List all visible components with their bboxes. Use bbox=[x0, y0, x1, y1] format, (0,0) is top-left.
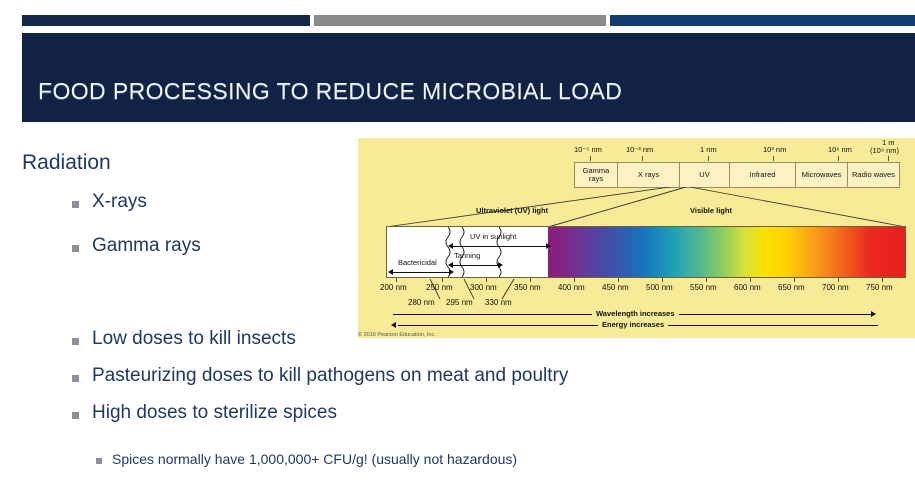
spectrum-band-radio-waves: Radio waves bbox=[848, 162, 900, 188]
label-bactericidal: Bactericidal bbox=[398, 258, 437, 267]
bactericidal-arrow-left bbox=[388, 269, 393, 275]
bactericidal-arrow-line bbox=[393, 272, 451, 273]
wavelength-increases-arrowhead bbox=[871, 311, 876, 317]
wavelength-tick bbox=[794, 278, 795, 282]
wavelength-label-400nm: 400 nm bbox=[558, 283, 585, 292]
spectrum-band-x-rays: X rays bbox=[618, 162, 680, 188]
axis-tick bbox=[642, 156, 643, 161]
bactericidal-arrow-right bbox=[449, 269, 454, 275]
band-label-line2: rays bbox=[589, 174, 603, 183]
label-uv-in-sunlight: UV in sunlight bbox=[470, 232, 516, 241]
label-tanning: Tanning bbox=[454, 251, 480, 260]
list-item-label: Pasteurizing doses to kill pathogens on … bbox=[92, 365, 568, 387]
page-title: FOOD PROCESSING TO REDUCE MICROBIAL LOAD bbox=[38, 78, 622, 105]
wavelength-label-330nm: 330 nm bbox=[485, 298, 512, 307]
wavelength-tick bbox=[838, 278, 839, 282]
expansion-guide-lines bbox=[358, 187, 915, 229]
spectrum-band-row: Gamma rays X rays UV Infrared Microwaves… bbox=[574, 162, 900, 188]
wavelength-label-750nm: 750 nm bbox=[866, 283, 893, 292]
uv-sunlight-arrow-left bbox=[448, 243, 453, 249]
wavelength-label-650nm: 650 nm bbox=[778, 283, 805, 292]
wavelength-label-200nm: 200 nm bbox=[380, 283, 407, 292]
axis-label-1e-5nm: 10⁻⁵ nm bbox=[574, 145, 602, 154]
bullet-square-icon bbox=[72, 245, 79, 252]
bullet-square-icon bbox=[72, 201, 79, 208]
bullet-square-icon bbox=[72, 338, 79, 345]
spectrum-band-infrared: Infrared bbox=[730, 162, 796, 188]
spectrum-band-uv: UV bbox=[680, 162, 730, 188]
copyright-notice: © 2016 Pearson Education, Inc. bbox=[358, 332, 436, 338]
spectrum-band-microwaves: Microwaves bbox=[796, 162, 848, 188]
axis-label-1nm: 1 nm bbox=[700, 145, 717, 154]
wavelength-label-700nm: 700 nm bbox=[822, 283, 849, 292]
axis-tick bbox=[708, 156, 709, 161]
wavelength-label-450nm: 450 nm bbox=[602, 283, 629, 292]
uv-sunlight-arrow-line bbox=[453, 246, 547, 247]
list-item-label: High doses to sterilize spices bbox=[92, 402, 337, 424]
section-heading-radiation: Radiation bbox=[22, 151, 111, 175]
wavelength-label-280nm: 280 nm bbox=[408, 298, 435, 307]
electromagnetic-spectrum-figure: 10⁻⁵ nm 10⁻³ nm 1 nm 10³ nm 10⁶ nm 1 m (… bbox=[358, 138, 915, 338]
list-item-label: Gamma rays bbox=[92, 235, 201, 257]
wavelength-label-600nm: 600 nm bbox=[734, 283, 761, 292]
axis-tick bbox=[838, 156, 839, 161]
tanning-arrow-left bbox=[448, 262, 453, 268]
label-visible-light: Visible light bbox=[690, 206, 732, 215]
wavelength-tick bbox=[706, 278, 707, 282]
tanning-arrow-right bbox=[498, 262, 503, 268]
bullet-square-icon bbox=[72, 412, 79, 419]
axis-label-1e3nm: 10³ nm bbox=[763, 145, 786, 154]
top-accent-bar-gray bbox=[314, 15, 606, 26]
label-wavelength-increases: Wavelength increases bbox=[592, 309, 679, 318]
wavelength-label-295nm: 295 nm bbox=[446, 298, 473, 307]
wavelength-label-550nm: 550 nm bbox=[690, 283, 717, 292]
energy-increases-arrowhead bbox=[391, 322, 396, 328]
sub-tick-leader-lines bbox=[418, 279, 548, 305]
axis-tick bbox=[888, 156, 889, 161]
axis-label-1e6nm: 10⁶ nm bbox=[828, 145, 852, 154]
list-item-label: Low doses to kill insects bbox=[92, 328, 296, 350]
bullet-square-icon bbox=[96, 458, 102, 464]
list-item-label: X-rays bbox=[92, 191, 147, 213]
wavelength-tick bbox=[574, 278, 575, 282]
axis-tick bbox=[590, 156, 591, 161]
wavelength-tick bbox=[396, 278, 397, 282]
wavelength-tick bbox=[882, 278, 883, 282]
wavelength-tick bbox=[662, 278, 663, 282]
spectrum-band-gamma-rays: Gamma rays bbox=[574, 162, 618, 188]
visible-light-gradient bbox=[548, 226, 906, 278]
axis-tick bbox=[773, 156, 774, 161]
top-accent-bar-blue bbox=[610, 15, 915, 26]
tanning-arrow-line bbox=[453, 265, 499, 266]
label-energy-increases: Energy increases bbox=[598, 320, 668, 329]
list-item-label: Spices normally have 1,000,000+ CFU/g! (… bbox=[112, 451, 517, 467]
axis-label-1e9nm: (10⁹ nm) bbox=[870, 146, 899, 155]
wavelength-tick bbox=[750, 278, 751, 282]
top-accent-bar-dark bbox=[22, 15, 310, 26]
uv-sunlight-arrow-right bbox=[546, 243, 551, 249]
bullet-square-icon bbox=[72, 375, 79, 382]
wavelength-tick bbox=[618, 278, 619, 282]
wavelength-label-500nm: 500 nm bbox=[646, 283, 673, 292]
label-ultraviolet-light: Ultraviolet (UV) light bbox=[476, 206, 548, 215]
axis-label-1e-3nm: 10⁻³ nm bbox=[626, 145, 653, 154]
